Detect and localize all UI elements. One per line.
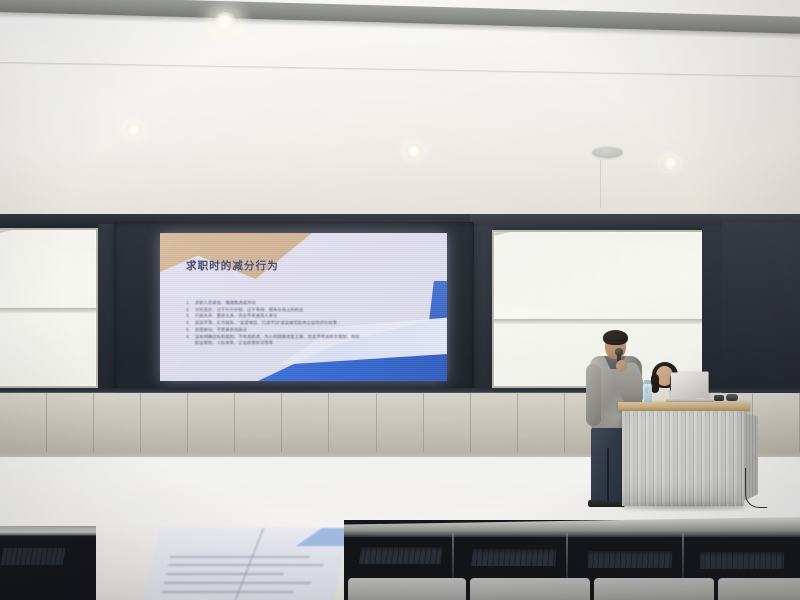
assistant-hair-strand (651, 374, 659, 393)
glasses-icon (606, 342, 625, 346)
reflection-text-line (161, 591, 294, 593)
slide-bullet: 1. 求职人员紧张、情绪焦虑或冲动 (183, 300, 435, 307)
wainscot-tile (188, 393, 235, 456)
bullet-text: 双选不等、礼节缺失、"说谎电话、已读不回"或会被否拒绝企业的评价结果 (195, 320, 337, 327)
bullet-number: 6. (183, 334, 190, 341)
lecture-hall-scene: 求职时的减分行为 1. 求职人员紧张、情绪焦虑或冲动 2. 讨价还价、过于斤斤计… (0, 0, 800, 600)
reflection-text-line (167, 564, 324, 566)
wainscot-tile (141, 393, 188, 456)
ceiling-downlight (212, 12, 238, 31)
bullet-text: 求职人员紧张、情绪焦虑或冲动 (195, 300, 256, 307)
ceiling-seam (0, 62, 800, 80)
wainscot-tile (329, 393, 376, 456)
wainscot-tile (424, 393, 471, 456)
bullet-number: 1. (183, 300, 190, 307)
bullet-text-continued: 职业规划、人际关系、企业经营状况等等 (183, 340, 435, 347)
reflection-text-line (169, 556, 310, 558)
whiteboard-left (0, 228, 98, 388)
keyboard[interactable] (359, 547, 443, 564)
keyboard[interactable] (700, 552, 785, 569)
wainscot-tile (518, 393, 565, 456)
wainscot-tile (94, 393, 141, 456)
presenter-hand (616, 360, 627, 372)
podium-floor-shadow (612, 500, 762, 512)
podium-top-surface (618, 402, 750, 411)
wainscot-tile (471, 393, 518, 456)
water-bottle (643, 383, 652, 404)
chair-back (470, 578, 590, 600)
slide-bullet-list: 1. 求职人员紧张、情绪焦虑或冲动 2. 讨价还价、过于斤斤计较、过于争辩、错失… (183, 300, 435, 347)
slide-bullet: 4. 双选不等、礼节缺失、"说谎电话、已读不回"或会被否拒绝企业的评价结果 (183, 320, 435, 327)
bullet-number: 2. (183, 307, 190, 314)
reflection-text-line (163, 582, 312, 584)
keyboard[interactable] (588, 551, 673, 568)
reflection-blue-shape (296, 528, 350, 546)
slide-reflection-on-floor (144, 528, 351, 600)
bullet-number: 5. (183, 327, 190, 334)
wainscot-tile (47, 393, 94, 456)
microphone-receiver (714, 395, 724, 401)
presenter-arm-left (586, 364, 601, 426)
podium-area (560, 320, 800, 540)
chair-back (348, 578, 466, 600)
podium-front-panel (622, 411, 744, 506)
chair-back (718, 578, 800, 600)
wainscot-tile (235, 393, 282, 456)
whiteboard-divider (0, 308, 96, 311)
ceiling (0, 0, 800, 232)
hanging-wire (600, 160, 601, 208)
wainscot-tile (377, 393, 424, 456)
slide-bullet: 5. 态度被动、不愿意参加面试 (183, 327, 435, 334)
microphone-icon (615, 348, 623, 356)
keyboard[interactable] (471, 549, 556, 566)
bullet-number: 3. (183, 313, 190, 320)
bullet-number: 4. (183, 320, 190, 327)
water-bottle-cap (644, 380, 651, 384)
bullet-text: 态度被动、不愿意参加面试 (195, 327, 247, 334)
keyboard[interactable] (1, 548, 66, 565)
podium-cable (745, 468, 767, 508)
reflection-text-line (165, 573, 284, 575)
wainscot-tile (0, 393, 47, 456)
presentation-slide[interactable]: 求职时的减分行为 1. 求职人员紧张、情绪焦虑或冲动 2. 讨价还价、过于斤斤计… (160, 233, 447, 381)
remote-clicker[interactable] (726, 394, 738, 401)
presenter-leg-split (607, 448, 609, 503)
chair-back (594, 578, 714, 600)
slide-title: 求职时的减分行为 (186, 258, 279, 273)
wainscot-tile (282, 393, 329, 456)
laptop-screen[interactable] (671, 371, 709, 400)
ceiling-downlight (124, 123, 143, 137)
